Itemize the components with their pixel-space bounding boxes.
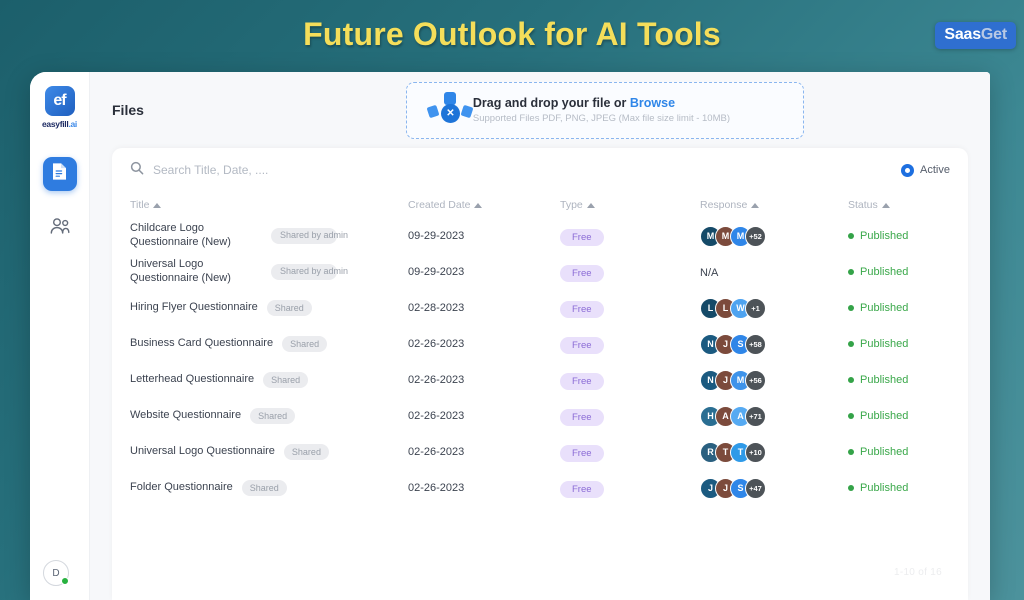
status-badge: Published xyxy=(848,374,968,386)
status-dot-icon xyxy=(848,413,854,419)
status-dot-icon xyxy=(848,305,854,311)
cell-response: N/A xyxy=(700,263,848,281)
sort-asc-icon[interactable] xyxy=(153,203,161,208)
file-title[interactable]: Universal Logo Questionnaire xyxy=(130,445,275,459)
dropzone-hint: Supported Files PDF, PNG, JPEG (Max file… xyxy=(473,113,730,124)
cell-title: Childcare Logo Questionnaire (New)Shared… xyxy=(130,222,408,250)
avatar-overflow-count[interactable]: +1 xyxy=(745,298,766,319)
cell-type: Free xyxy=(560,407,700,426)
easyfill-logo-text: easyfill.ai xyxy=(42,119,77,129)
status-badge: Published xyxy=(848,338,968,350)
type-badge: Free xyxy=(560,445,604,462)
avatar-overflow-count[interactable]: +56 xyxy=(745,370,766,391)
easyfill-logo-mark: ef xyxy=(45,86,75,116)
cell-response: LLW+1 xyxy=(700,298,848,319)
avatar-group[interactable]: JJS+47 xyxy=(700,478,848,499)
cell-response: JJS+47 xyxy=(700,478,848,499)
dropzone-prefix: Drag and drop your file or xyxy=(473,96,630,110)
file-title[interactable]: Website Questionnaire xyxy=(130,409,241,423)
avatar-overflow-count[interactable]: +10 xyxy=(745,442,766,463)
table-row[interactable]: Business Card QuestionnaireShared02-26-2… xyxy=(112,326,968,362)
cell-created-date: 02-26-2023 xyxy=(408,374,560,386)
column-label: Response xyxy=(700,199,747,211)
cell-created-date: 02-26-2023 xyxy=(408,338,560,350)
table-row[interactable]: Folder QuestionnaireShared02-26-2023Free… xyxy=(112,470,968,506)
dropzone-main-text: Drag and drop your file or Browse xyxy=(473,96,730,110)
cell-title: Hiring Flyer QuestionnaireShared xyxy=(130,300,408,316)
cell-type: Free xyxy=(560,227,700,246)
pagination-label: 1-10 of 16 xyxy=(894,567,942,578)
avatar-group[interactable]: LLW+1 xyxy=(700,298,848,319)
cell-type: Free xyxy=(560,299,700,318)
search-input[interactable] xyxy=(153,163,413,177)
filter-active-label: Active xyxy=(920,164,950,176)
table-toolbar: Active xyxy=(112,148,968,192)
column-header-created-date[interactable]: Created Date xyxy=(408,199,560,211)
column-label: Type xyxy=(560,199,583,211)
status-label: Published xyxy=(860,410,908,422)
status-label: Published xyxy=(860,482,908,494)
sidebar: ef easyfill.ai xyxy=(30,72,90,600)
status-label: Published xyxy=(860,302,908,314)
sidebar-item-users[interactable] xyxy=(43,211,77,245)
shared-badge: Shared xyxy=(284,444,329,460)
cell-created-date: 09-29-2023 xyxy=(408,230,560,242)
avatar-group[interactable]: NJS+58 xyxy=(700,334,848,355)
brand-logo-badge: SaasGet xyxy=(935,22,1016,49)
type-badge: Free xyxy=(560,301,604,318)
user-avatar[interactable]: D xyxy=(43,560,69,586)
status-badge: Published xyxy=(848,266,968,278)
status-badge: Published xyxy=(848,410,968,422)
cell-response: NJM+56 xyxy=(700,370,848,391)
search-box[interactable] xyxy=(130,161,901,180)
table-body: Childcare Logo Questionnaire (New)Shared… xyxy=(112,218,968,506)
type-badge: Free xyxy=(560,409,604,426)
cell-title: Folder QuestionnaireShared xyxy=(130,480,408,496)
status-dot-icon xyxy=(848,233,854,239)
cell-created-date: 02-26-2023 xyxy=(408,410,560,422)
cell-title: Business Card QuestionnaireShared xyxy=(130,336,408,352)
cell-title: Universal Logo QuestionnaireShared xyxy=(130,444,408,460)
table-row[interactable]: Universal Logo QuestionnaireShared02-26-… xyxy=(112,434,968,470)
logo-name: easyfill xyxy=(42,119,68,129)
status-label: Published xyxy=(860,338,908,350)
column-label: Created Date xyxy=(408,199,470,211)
column-header-status[interactable]: Status xyxy=(848,199,968,211)
shared-badge: Shared xyxy=(282,336,327,352)
brand-name-primary: Saas xyxy=(944,26,981,43)
filter-active[interactable]: Active xyxy=(901,164,950,177)
banner-title: Future Outlook for AI Tools xyxy=(0,16,1024,53)
search-icon xyxy=(130,161,144,180)
file-title[interactable]: Hiring Flyer Questionnaire xyxy=(130,301,258,315)
avatar-overflow-count[interactable]: +71 xyxy=(745,406,766,427)
browse-link[interactable]: Browse xyxy=(630,96,675,110)
type-badge: Free xyxy=(560,265,604,282)
status-label: Published xyxy=(860,230,908,242)
document-icon xyxy=(51,162,68,186)
files-table-card: Active Title Created Date Type Response xyxy=(112,148,968,600)
status-label: Published xyxy=(860,266,908,278)
status-badge: Published xyxy=(848,302,968,314)
column-header-response[interactable]: Response xyxy=(700,199,848,211)
table-row[interactable]: Letterhead QuestionnaireShared02-26-2023… xyxy=(112,362,968,398)
file-title[interactable]: Universal Logo Questionnaire (New) xyxy=(130,258,262,286)
app-window: ef easyfill.ai xyxy=(30,72,990,600)
sidebar-item-files[interactable] xyxy=(43,157,77,191)
status-dot-icon xyxy=(848,341,854,347)
cell-response: HAA+71 xyxy=(700,406,848,427)
avatar-group[interactable]: HAA+71 xyxy=(700,406,848,427)
avatar-group[interactable]: RTT+10 xyxy=(700,442,848,463)
response-empty: N/A xyxy=(700,267,718,279)
column-header-type[interactable]: Type xyxy=(560,199,700,211)
table-row[interactable]: Website QuestionnaireShared02-26-2023Fre… xyxy=(112,398,968,434)
shared-badge: Shared by admin xyxy=(271,264,337,279)
file-title[interactable]: Letterhead Questionnaire xyxy=(130,373,254,387)
type-badge: Free xyxy=(560,481,604,498)
cell-title: Letterhead QuestionnaireShared xyxy=(130,372,408,388)
status-badge: Published xyxy=(848,482,968,494)
status-badge: Published xyxy=(848,446,968,458)
main-content: Files ✕ Drag and drop your file or Brows… xyxy=(90,72,990,600)
status-dot-icon xyxy=(848,377,854,383)
cell-type: Free xyxy=(560,335,700,354)
file-dropzone[interactable]: ✕ Drag and drop your file or Browse Supp… xyxy=(406,82,804,139)
status-dot-icon xyxy=(848,449,854,455)
table-row[interactable]: Universal Logo Questionnaire (New)Shared… xyxy=(112,254,968,290)
sort-asc-icon[interactable] xyxy=(882,203,890,208)
avatar-group[interactable]: NJM+56 xyxy=(700,370,848,391)
cell-created-date: 02-26-2023 xyxy=(408,482,560,494)
shared-badge: Shared xyxy=(263,372,308,388)
table-row[interactable]: Childcare Logo Questionnaire (New)Shared… xyxy=(112,218,968,254)
cell-title: Website QuestionnaireShared xyxy=(130,408,408,424)
status-label: Published xyxy=(860,446,908,458)
type-badge: Free xyxy=(560,373,604,390)
status-badge: Published xyxy=(848,230,968,242)
status-label: Published xyxy=(860,374,908,386)
cell-title: Universal Logo Questionnaire (New)Shared… xyxy=(130,258,408,286)
cell-type: Free xyxy=(560,479,700,498)
shared-badge: Shared by admin xyxy=(271,228,337,243)
cell-response: NJS+58 xyxy=(700,334,848,355)
avatar-group[interactable]: MMM+52 xyxy=(700,226,848,247)
cell-type: Free xyxy=(560,371,700,390)
column-header-title[interactable]: Title xyxy=(130,199,408,211)
sort-asc-icon[interactable] xyxy=(751,203,759,208)
sort-asc-icon[interactable] xyxy=(587,203,595,208)
avatar-initial: D xyxy=(52,568,59,579)
file-title[interactable]: Childcare Logo Questionnaire (New) xyxy=(130,222,262,250)
page-title: Files xyxy=(112,102,144,118)
file-upload-cluster-icon: ✕ xyxy=(427,90,473,130)
shared-badge: Shared xyxy=(250,408,295,424)
cell-created-date: 02-26-2023 xyxy=(408,446,560,458)
cell-type: Free xyxy=(560,263,700,282)
file-title[interactable]: Business Card Questionnaire xyxy=(130,337,273,351)
column-label: Status xyxy=(848,199,878,211)
people-icon xyxy=(49,217,71,240)
brand-name-secondary: Get xyxy=(981,26,1007,43)
avatar-overflow-count[interactable]: +52 xyxy=(745,226,766,247)
radio-selected-icon[interactable] xyxy=(901,164,914,177)
shared-badge: Shared xyxy=(242,480,287,496)
file-title[interactable]: Folder Questionnaire xyxy=(130,481,233,495)
cell-response: RTT+10 xyxy=(700,442,848,463)
cell-response: MMM+52 xyxy=(700,226,848,247)
online-status-dot xyxy=(61,577,69,585)
status-dot-icon xyxy=(848,485,854,491)
cell-created-date: 02-28-2023 xyxy=(408,302,560,314)
logo-suffix: .ai xyxy=(68,119,77,129)
sort-asc-icon[interactable] xyxy=(474,203,482,208)
type-badge: Free xyxy=(560,229,604,246)
topbar: Files ✕ Drag and drop your file or Brows… xyxy=(90,72,990,148)
cell-created-date: 09-29-2023 xyxy=(408,266,560,278)
table-header-row: Title Created Date Type Response Status xyxy=(112,192,968,218)
type-badge: Free xyxy=(560,337,604,354)
avatar-overflow-count[interactable]: +47 xyxy=(745,478,766,499)
column-label: Title xyxy=(130,199,149,211)
table-row[interactable]: Hiring Flyer QuestionnaireShared02-28-20… xyxy=(112,290,968,326)
cell-type: Free xyxy=(560,443,700,462)
avatar-overflow-count[interactable]: +58 xyxy=(745,334,766,355)
shared-badge: Shared xyxy=(267,300,312,316)
status-dot-icon xyxy=(848,269,854,275)
